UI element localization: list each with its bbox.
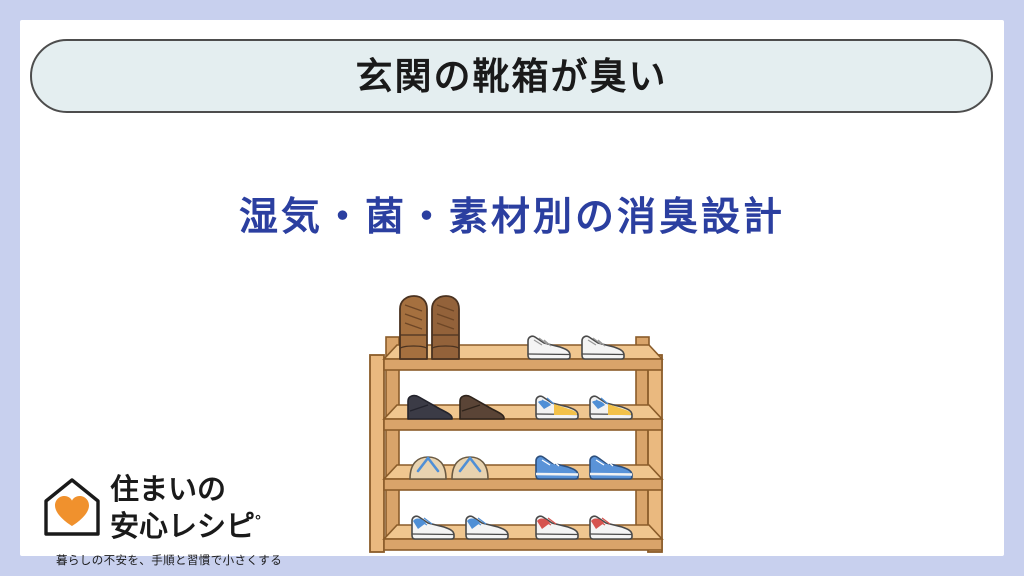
logo-line-1: 住まいの bbox=[110, 472, 261, 509]
house-heart-icon bbox=[42, 476, 102, 538]
page-subtitle: 湿気・菌・素材別の消臭設計 bbox=[20, 198, 1004, 237]
logo-wordmark: 住まいの 安心レシピ° bbox=[110, 472, 261, 546]
logo-line-2-wrap: 安心レシピ° bbox=[110, 509, 261, 546]
brand-logo: 住まいの 安心レシピ° 暮らしの不安を、手順と習慣で小さくする bbox=[42, 468, 272, 554]
title-banner: 玄関の靴箱が臭い bbox=[30, 39, 993, 113]
logo-line-2: 安心レシピ bbox=[110, 511, 255, 543]
slide-canvas: 玄関の靴箱が臭い 湿気・菌・素材別の消臭設計 bbox=[20, 20, 1004, 556]
logo-tagline: 暮らしの不安を、手順と習慣で小さくする bbox=[56, 552, 282, 568]
shoe-rack-illustration bbox=[348, 275, 698, 560]
logo-degree-mark: ° bbox=[255, 512, 261, 529]
page-title: 玄関の靴箱が臭い bbox=[356, 58, 668, 95]
